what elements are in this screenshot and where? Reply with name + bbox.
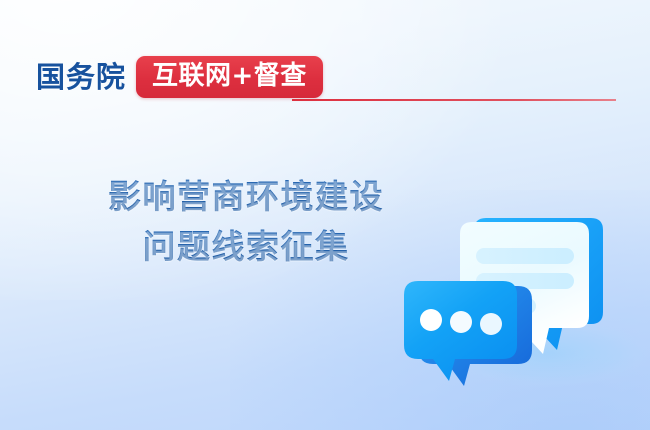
campaign-badge: 互联网+督查 bbox=[136, 56, 323, 98]
campaign-badge-label: 互联网+督查 bbox=[152, 61, 307, 91]
speech-bubbles-illustration bbox=[398, 205, 650, 405]
header-divider-rule bbox=[292, 99, 616, 101]
organization-label: 国务院 bbox=[36, 63, 126, 92]
banner-header: 国务院 互联网+督查 bbox=[36, 54, 323, 100]
typing-dot-2 bbox=[450, 311, 472, 333]
typing-dot-1 bbox=[420, 309, 442, 331]
back-bubble-line-1 bbox=[476, 248, 574, 264]
gov-campaign-banner: 国务院 互联网+督查 影响营商环境建设 问题线索征集 bbox=[0, 0, 650, 430]
typing-dot-3 bbox=[480, 313, 502, 335]
